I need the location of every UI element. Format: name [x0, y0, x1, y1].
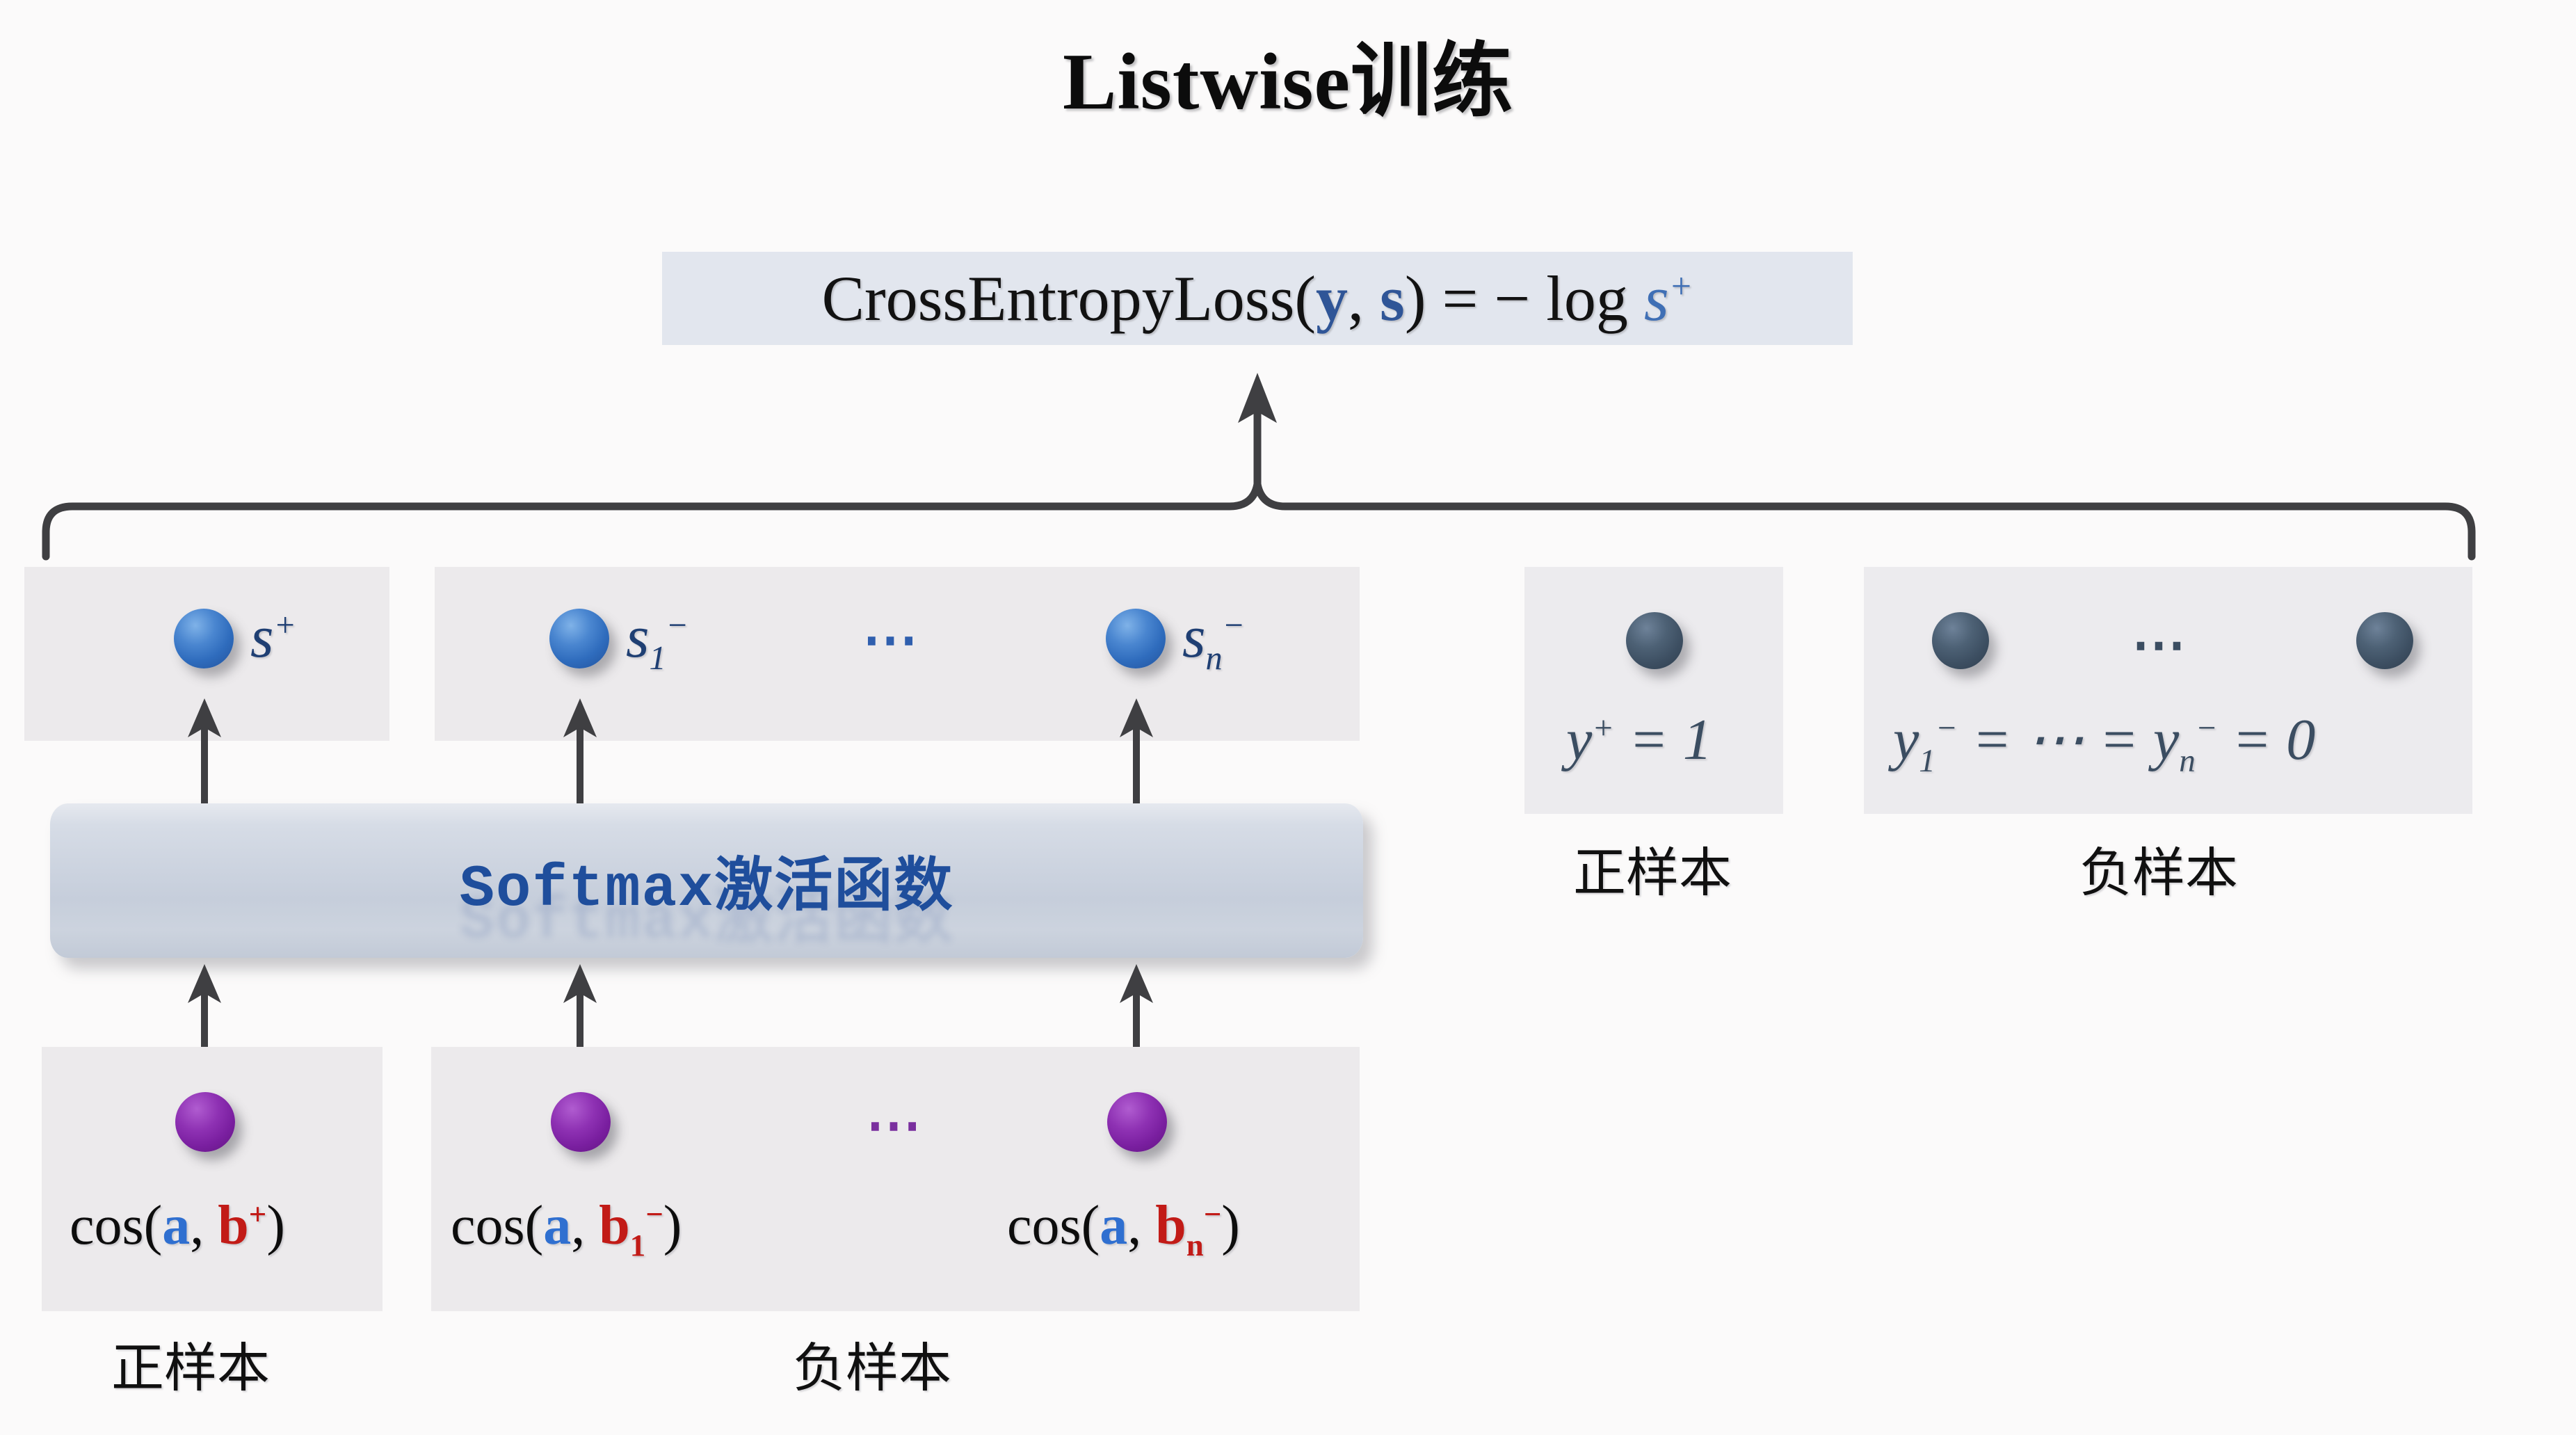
loss-prefix: CrossEntropyLoss(	[822, 263, 1316, 334]
cos-pos-sep: ,	[190, 1195, 218, 1256]
score-ellipsis: ⋯	[862, 612, 918, 668]
caption-cos-positive: 正样本	[111, 1342, 270, 1395]
loss-arg-y: y	[1316, 263, 1348, 334]
label-text-negative: y1− = ⋯ = yn− = 0	[1893, 711, 2315, 778]
score-positive-sup: +	[273, 607, 296, 643]
cos-label-negative-n: cos(a, bn−)	[1007, 1198, 1240, 1261]
cos-negn-sup: −	[1204, 1196, 1222, 1231]
score-label-negative-n: sn−	[1182, 607, 1245, 675]
label-pos-base: y	[1566, 707, 1592, 772]
label-sphere-negative-n	[2356, 612, 2413, 669]
label-neg1-sup: −	[1935, 710, 1958, 746]
cos-neg1-sub: 1	[630, 1228, 645, 1262]
score-positive-base: s	[250, 603, 273, 670]
cos-label-negative-1: cos(a, b1−)	[451, 1198, 682, 1261]
cos-pos-fn: cos(	[70, 1195, 162, 1256]
label-positive-panel	[1524, 567, 1783, 814]
softmax-activation-bar: Softmax激活函数	[50, 803, 1363, 958]
softmax-label: Softmax激活函数	[460, 838, 954, 923]
label-neg-value: 0	[2286, 707, 2315, 772]
label-negn-sup: −	[2196, 710, 2218, 746]
score-neg1-base: s	[626, 603, 649, 670]
cos-pos-b: b	[218, 1195, 249, 1256]
caption-label-negative: 负样本	[2079, 847, 2238, 900]
cos-negative-panel	[431, 1047, 1360, 1311]
cos-negn-b: b	[1155, 1195, 1186, 1256]
cos-negn-sub: n	[1186, 1228, 1204, 1262]
score-negn-base: s	[1182, 603, 1205, 670]
label-sphere-negative-1	[1932, 612, 1989, 669]
label-negn-sub: n	[2179, 743, 2196, 779]
loss-equals: =	[1426, 263, 1494, 334]
cos-neg1-fn: cos(	[451, 1195, 543, 1256]
diagram-canvas: Listwise训练 CrossEntropyLoss(y, s) = − lo…	[0, 0, 2576, 1435]
cos-negn-fn: cos(	[1007, 1195, 1100, 1256]
cos-sphere-negative-1	[551, 1092, 611, 1152]
cos-negn-sep: ,	[1127, 1195, 1155, 1256]
cos-neg1-close: )	[663, 1195, 682, 1256]
loss-minus-log: − log	[1494, 263, 1643, 334]
caption-cos-negative: 负样本	[793, 1342, 951, 1395]
score-sphere-negative-1	[549, 609, 609, 668]
page-title: Listwise训练	[0, 15, 2576, 132]
label-neg1-base: y	[1893, 707, 1919, 772]
loss-rhs-sup: +	[1669, 266, 1693, 306]
cos-neg1-sep: ,	[571, 1195, 599, 1256]
score-neg1-sup: −	[666, 607, 689, 643]
cos-negn-close: )	[1221, 1195, 1240, 1256]
aggregation-brace	[21, 348, 2525, 577]
label-pos-value: 1	[1683, 707, 1712, 772]
label-text-positive: y+ = 1	[1566, 711, 1712, 769]
label-sphere-positive	[1626, 612, 1683, 669]
score-sphere-positive	[174, 609, 234, 668]
cos-negn-a: a	[1100, 1195, 1127, 1256]
label-pos-sup: +	[1592, 710, 1614, 746]
label-negn-base: y	[2153, 707, 2179, 772]
loss-formula-box: CrossEntropyLoss(y, s) = − log s+	[662, 252, 1853, 345]
score-negn-sup: −	[1223, 607, 1246, 643]
cos-pos-a: a	[162, 1195, 190, 1256]
cos-neg1-sup: −	[645, 1196, 663, 1231]
cos-ellipsis: ⋯	[866, 1098, 921, 1153]
cos-pos-close: )	[266, 1195, 285, 1256]
cos-sphere-positive	[175, 1092, 235, 1152]
cos-neg1-a: a	[543, 1195, 571, 1256]
arrow-softmax-to-score-negative-1	[558, 696, 602, 807]
label-neg-equals: =	[2218, 707, 2287, 772]
loss-rhs-s: s	[1644, 263, 1669, 334]
loss-suffix: )	[1405, 263, 1426, 334]
loss-formula-text: CrossEntropyLoss(y, s) = − log s+	[822, 266, 1693, 330]
label-pos-equals: =	[1614, 707, 1683, 772]
loss-arg-sep: ,	[1348, 263, 1380, 334]
score-label-positive: s+	[250, 607, 296, 666]
caption-label-positive: 正样本	[1573, 847, 1732, 900]
cos-sphere-negative-n	[1107, 1092, 1167, 1152]
loss-arg-s: s	[1380, 263, 1405, 334]
score-negn-sub: n	[1205, 640, 1222, 677]
label-neg-mid: = ⋯ =	[1958, 707, 2153, 772]
score-neg1-sub: 1	[649, 640, 666, 677]
arrow-softmax-to-score-negative-n	[1114, 696, 1159, 807]
arrow-softmax-to-score-positive	[182, 696, 227, 807]
cos-neg1-b: b	[599, 1195, 630, 1256]
cos-positive-panel	[42, 1047, 383, 1311]
cos-label-positive: cos(a, b+)	[70, 1198, 285, 1253]
score-label-negative-1: s1−	[626, 607, 689, 675]
label-neg1-sub: 1	[1919, 743, 1935, 779]
score-sphere-negative-n	[1106, 609, 1166, 668]
label-ellipsis: ⋯	[2132, 618, 2186, 672]
cos-pos-sup: +	[249, 1196, 267, 1231]
